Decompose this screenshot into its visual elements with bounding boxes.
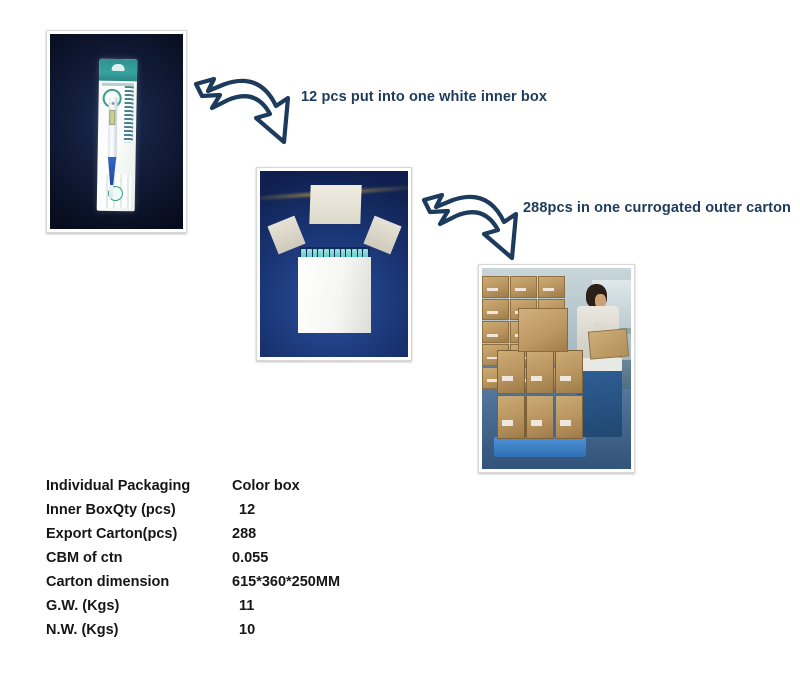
thermometer-body bbox=[107, 97, 117, 159]
photo-inner-box-canvas bbox=[260, 171, 408, 357]
spec-label: CBM of ctn bbox=[46, 550, 232, 566]
arrow-thermometer-to-inner-box-icon bbox=[190, 62, 308, 160]
carton bbox=[482, 276, 509, 298]
spec-value: 11 bbox=[232, 598, 254, 614]
packaging-spec-table: Individual Packaging Color box Inner Box… bbox=[46, 478, 466, 646]
photo-white-inner-box bbox=[256, 167, 412, 361]
warehouse-scene bbox=[482, 268, 631, 469]
photo-warehouse-canvas bbox=[482, 268, 631, 469]
thermometer-blue-grip bbox=[106, 157, 118, 187]
packaging-infographic-page: 12 pcs put into one white inner box bbox=[0, 0, 800, 683]
carton bbox=[482, 299, 509, 321]
spec-label: Export Carton(pcs) bbox=[46, 526, 232, 542]
carton bbox=[526, 395, 554, 439]
spec-label: Carton dimension bbox=[46, 574, 232, 590]
carton bbox=[538, 276, 565, 298]
carton bbox=[497, 350, 525, 394]
photo-thermometer-canvas bbox=[50, 34, 183, 229]
carton bbox=[482, 321, 509, 343]
palletized-carton-stack bbox=[497, 350, 583, 438]
table-row: Carton dimension 615*360*250MM bbox=[46, 574, 466, 598]
open-inner-carton bbox=[298, 218, 371, 333]
carton-front-panel bbox=[298, 257, 371, 333]
blue-bin bbox=[577, 369, 622, 437]
spec-value: 12 bbox=[232, 502, 255, 518]
spec-value: Color box bbox=[232, 478, 300, 494]
spec-label: G.W. (Kgs) bbox=[46, 598, 232, 614]
thermometer-probe-tip bbox=[108, 185, 112, 199]
spec-value: 615*360*250MM bbox=[232, 574, 340, 590]
table-row: Inner BoxQty (pcs) 12 bbox=[46, 502, 466, 526]
carton bbox=[497, 395, 525, 439]
callout-inner-box-label: 12 pcs put into one white inner box bbox=[301, 89, 547, 105]
table-row: N.W. (Kgs) 10 bbox=[46, 622, 466, 646]
digital-thermometer bbox=[104, 97, 118, 197]
photo-warehouse-outer-cartons bbox=[478, 264, 635, 473]
carton bbox=[555, 395, 583, 439]
carton-back-flap bbox=[309, 185, 361, 224]
spec-label: Individual Packaging bbox=[46, 478, 232, 494]
hang-hole bbox=[111, 64, 124, 71]
table-row: G.W. (Kgs) 11 bbox=[46, 598, 466, 622]
photo-thermometer-color-box bbox=[46, 30, 187, 233]
spec-label: Inner BoxQty (pcs) bbox=[46, 502, 232, 518]
top-carton bbox=[518, 308, 569, 352]
blister-pack bbox=[96, 59, 137, 212]
thermometer-lcd-display bbox=[109, 110, 115, 125]
spec-label: N.W. (Kgs) bbox=[46, 622, 232, 638]
callout-outer-carton-label: 288pcs in one currogated outer carton bbox=[523, 200, 791, 216]
spec-value: 10 bbox=[232, 622, 255, 638]
carton bbox=[526, 350, 554, 394]
table-row: CBM of ctn 0.055 bbox=[46, 550, 466, 574]
package-text-block bbox=[123, 86, 133, 142]
spec-value: 0.055 bbox=[232, 550, 268, 566]
carton bbox=[510, 276, 537, 298]
carton bbox=[555, 350, 583, 394]
blue-pallet bbox=[494, 437, 586, 457]
table-row: Individual Packaging Color box bbox=[46, 478, 466, 502]
arrow-inner-box-to-outer-carton-icon bbox=[418, 178, 536, 276]
spec-value: 288 bbox=[232, 526, 256, 542]
table-row: Export Carton(pcs) 288 bbox=[46, 526, 466, 550]
carton-being-lifted bbox=[588, 329, 629, 360]
